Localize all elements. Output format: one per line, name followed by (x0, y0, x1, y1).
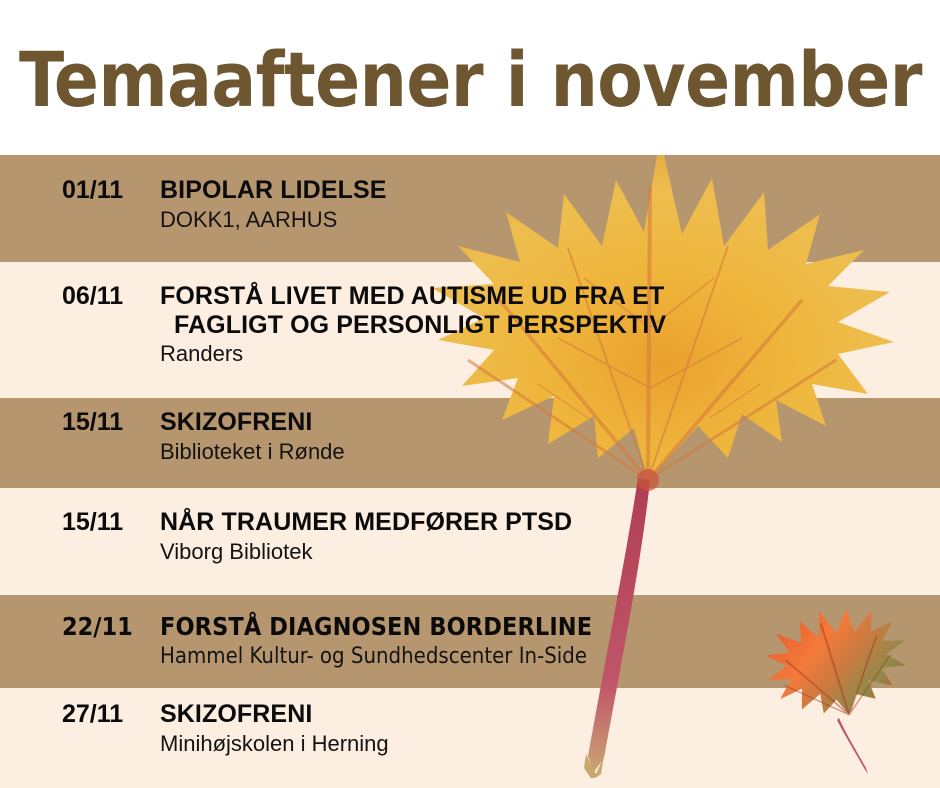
event-title: BIPOLAR LIDELSE (160, 176, 940, 205)
event-row[interactable]: 01/11 BIPOLAR LIDELSE DOKK1, AARHUS (0, 176, 940, 233)
event-date: 15/11 (0, 508, 160, 536)
event-date: 22/11 (0, 613, 160, 641)
event-date: 06/11 (0, 282, 160, 310)
event-date: 27/11 (0, 700, 160, 728)
event-title-line-2: FAGLIGT OG PERSONLIGT PERSPEKTIV (160, 311, 940, 340)
event-row[interactable]: 15/11 NÅR TRAUMER MEDFØRER PTSD Viborg B… (0, 508, 940, 565)
event-place: DOKK1, AARHUS (160, 207, 940, 233)
poster-header: Temaaftener i november (0, 0, 940, 155)
event-title: FORSTÅ DIAGNOSEN BORDERLINE (160, 613, 940, 642)
event-info: FORSTÅ LIVET MED AUTISME UD FRA ET FAGLI… (160, 282, 940, 367)
page-title: Temaaftener i november (18, 42, 921, 118)
event-row[interactable]: 06/11 FORSTÅ LIVET MED AUTISME UD FRA ET… (0, 282, 940, 367)
event-title: NÅR TRAUMER MEDFØRER PTSD (160, 508, 940, 537)
event-place: Minihøjskolen i Herning (160, 731, 940, 757)
event-info: BIPOLAR LIDELSE DOKK1, AARHUS (160, 176, 940, 233)
event-row[interactable]: 22/11 FORSTÅ DIAGNOSEN BORDERLINE Hammel… (0, 613, 940, 670)
event-info: NÅR TRAUMER MEDFØRER PTSD Viborg Bibliot… (160, 508, 940, 565)
event-place: Viborg Bibliotek (160, 539, 940, 565)
event-row[interactable]: 15/11 SKIZOFRENI Biblioteket i Rønde (0, 408, 940, 465)
event-title: SKIZOFRENI (160, 408, 940, 437)
poster-canvas: 01/11 BIPOLAR LIDELSE DOKK1, AARHUS 06/1… (0, 0, 940, 788)
event-place: Hammel Kultur- og Sundhedscenter In-Side (160, 644, 940, 670)
event-info: FORSTÅ DIAGNOSEN BORDERLINE Hammel Kultu… (160, 613, 940, 670)
event-place: Biblioteket i Rønde (160, 439, 940, 465)
event-row[interactable]: 27/11 SKIZOFRENI Minihøjskolen i Herning (0, 700, 940, 757)
event-title: FORSTÅ LIVET MED AUTISME UD FRA ET (160, 282, 940, 311)
event-date: 01/11 (0, 176, 160, 204)
event-place: Randers (160, 341, 940, 367)
event-title: SKIZOFRENI (160, 700, 940, 729)
event-date: 15/11 (0, 408, 160, 436)
event-info: SKIZOFRENI Biblioteket i Rønde (160, 408, 940, 465)
event-info: SKIZOFRENI Minihøjskolen i Herning (160, 700, 940, 757)
